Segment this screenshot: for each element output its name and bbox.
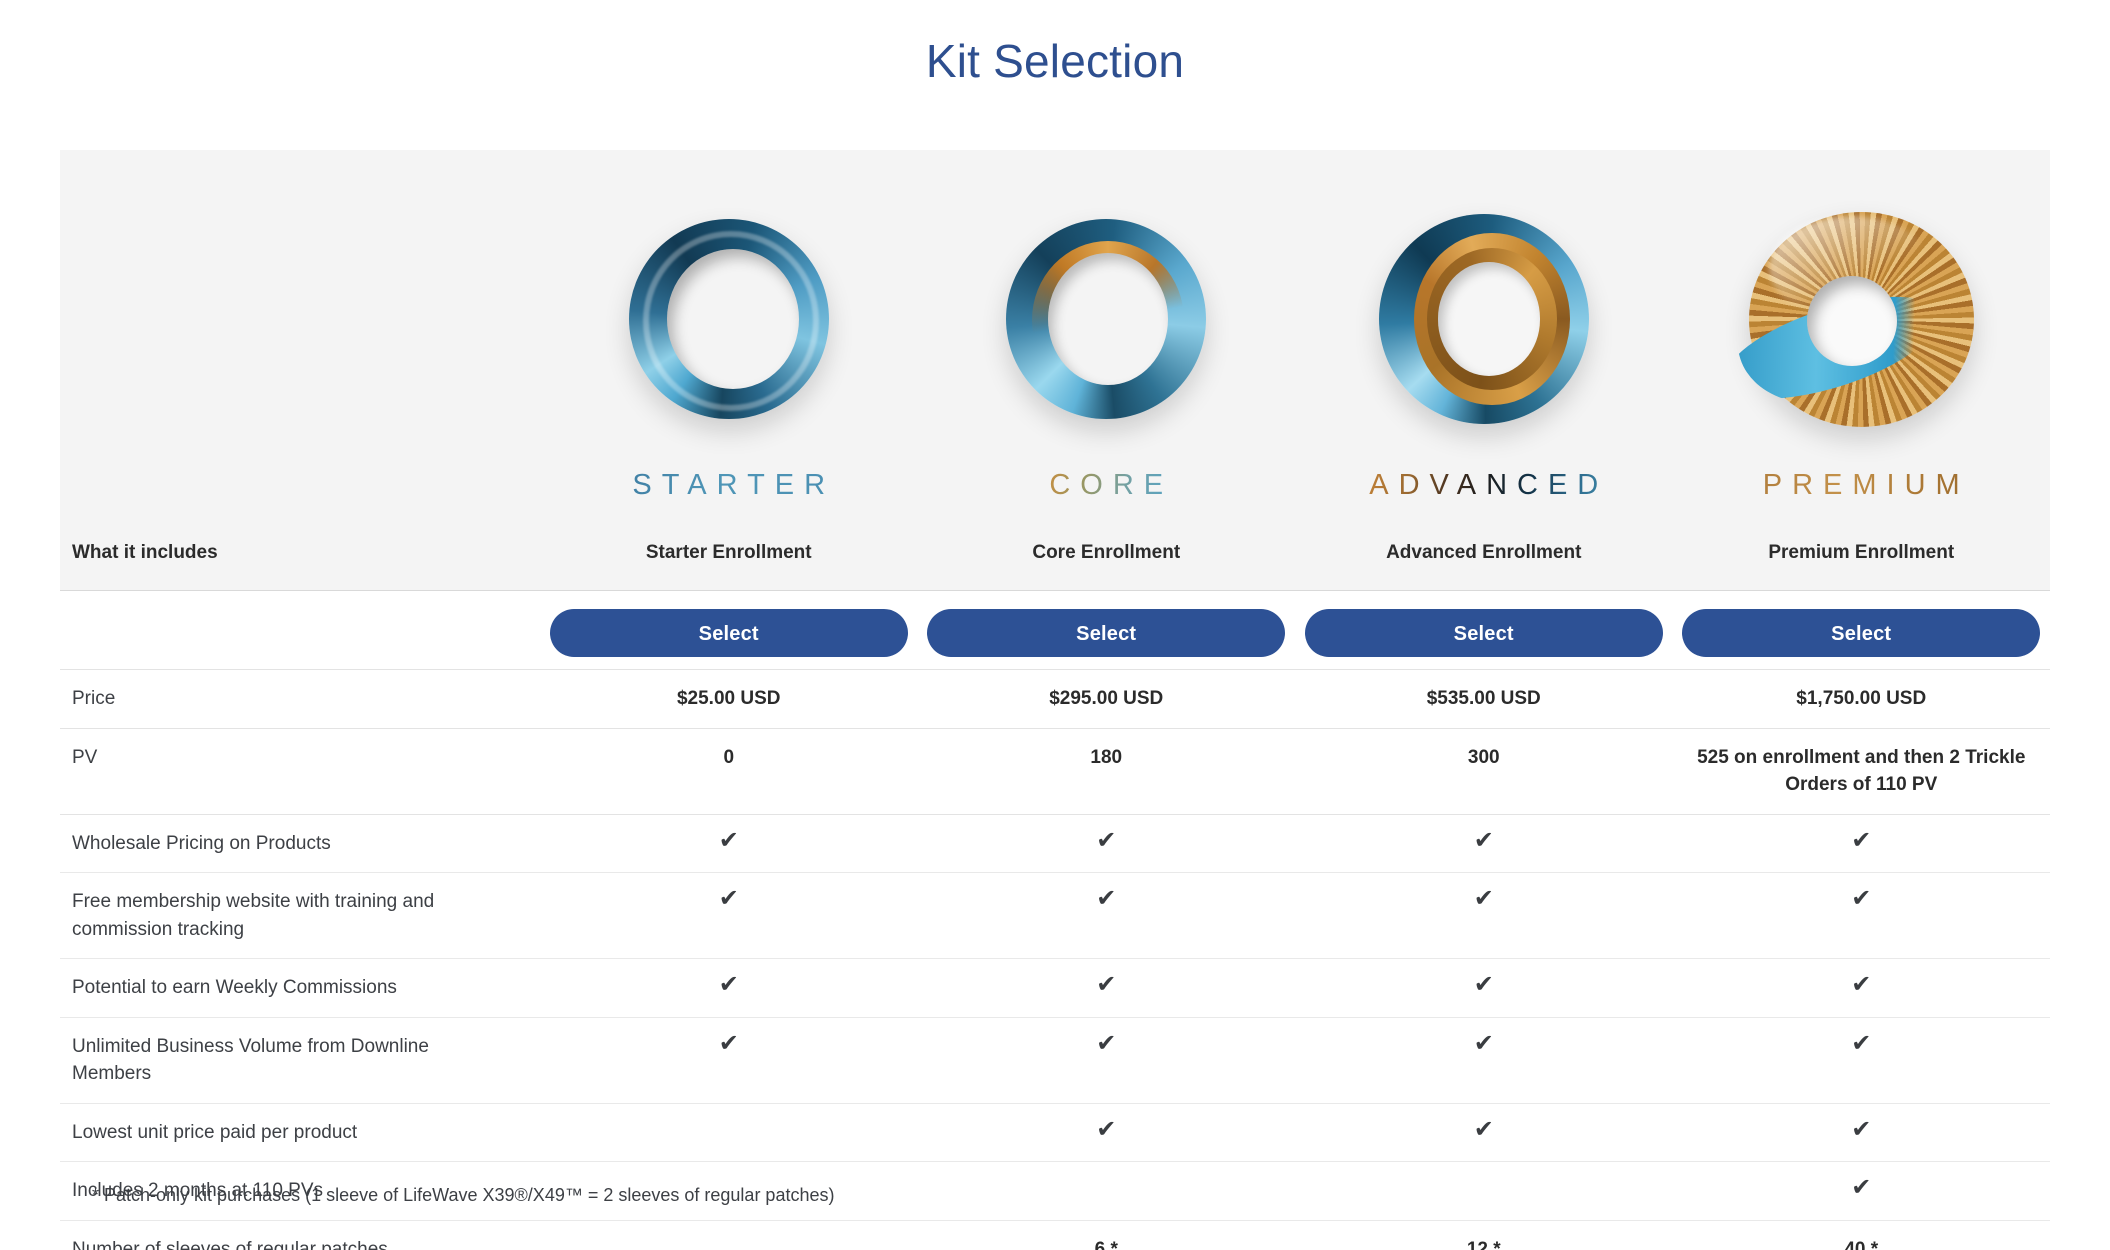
select-cell-core: Select [918,591,1296,670]
select-button-advanced[interactable]: Select [1305,609,1663,657]
hero-spacer-cell [60,150,540,542]
check-volume-advanced: ✔ [1295,1017,1673,1103]
check-website-advanced: ✔ [1295,873,1673,959]
starter-ring-icon [540,169,918,469]
sleeves-premium: 40 * [1673,1221,2051,1250]
check-website-premium: ✔ [1673,873,2051,959]
check-wholesale-core: ✔ [918,814,1296,873]
pv-premium: 525 on enrollment and then 2 Trickle Ord… [1673,728,2051,814]
price-advanced: $535.00 USD [1295,670,1673,729]
kit-word-core: CORE [1039,469,1173,502]
sleeves-starter [540,1221,918,1250]
select-cell-starter: Select [540,591,918,670]
check-commissions-premium: ✔ [1673,959,2051,1018]
select-cell-premium: Select [1673,591,2051,670]
kit-comparison-table: STARTER CORE [60,150,2050,1250]
check-volume-premium: ✔ [1673,1017,2051,1103]
core-ring-icon [918,169,1296,469]
check-commissions-advanced: ✔ [1295,959,1673,1018]
check-wholesale-premium: ✔ [1673,814,2051,873]
check-website-starter: ✔ [540,873,918,959]
check-2months-advanced [1295,1162,1673,1221]
check-wholesale-starter: ✔ [540,814,918,873]
table-row-pv: PV 0 180 300 525 on enrollment and then … [60,728,2050,814]
table-row-lowest-unit-price: Lowest unit price paid per product ✔ ✔ ✔ [60,1103,2050,1162]
hero-cell-core: CORE [918,150,1296,542]
page-title: Kit Selection [0,0,2110,87]
sleeves-core: 6 * [918,1221,1296,1250]
premium-ring-icon [1673,169,2051,469]
row-label-sleeves-count: Number of sleeves of regular patches [60,1221,540,1250]
row-label-lowest-unit-price: Lowest unit price paid per product [60,1103,540,1162]
pv-advanced: 300 [1295,728,1673,814]
kit-hero-row: STARTER CORE [60,150,2050,542]
check-lowest-price-advanced: ✔ [1295,1103,1673,1162]
price-core: $295.00 USD [918,670,1296,729]
table-row-price: Price $25.00 USD $295.00 USD $535.00 USD… [60,670,2050,729]
hero-cell-starter: STARTER [540,150,918,542]
check-website-core: ✔ [918,873,1296,959]
check-commissions-starter: ✔ [540,959,918,1018]
select-button-starter[interactable]: Select [550,609,908,657]
enrollment-label-advanced: Advanced Enrollment [1295,542,1673,591]
hero-cell-advanced: ADVANCED [1295,150,1673,542]
table-row-weekly-commissions: Potential to earn Weekly Commissions ✔ ✔… [60,959,2050,1018]
table-row-wholesale-pricing: Wholesale Pricing on Products ✔ ✔ ✔ ✔ [60,814,2050,873]
check-lowest-price-premium: ✔ [1673,1103,2051,1162]
enrollment-label-starter: Starter Enrollment [540,542,918,591]
enrollment-label-core: Core Enrollment [918,542,1296,591]
what-it-includes-header: What it includes [60,542,540,591]
check-volume-starter: ✔ [540,1017,918,1103]
select-cell-advanced: Select [1295,591,1673,670]
kit-select-button-row: Select Select Select Select [60,591,2050,670]
hero-cell-premium: PREMIUM [1673,150,2051,542]
row-label-free-membership-website: Free membership website with training an… [60,873,540,959]
row-label-price: Price [60,670,540,729]
kit-enrollment-label-row: What it includes Starter Enrollment Core… [60,542,2050,591]
kit-word-starter: STARTER [622,469,835,502]
row-label-wholesale-pricing: Wholesale Pricing on Products [60,814,540,873]
price-premium: $1,750.00 USD [1673,670,2051,729]
row-label-weekly-commissions: Potential to earn Weekly Commissions [60,959,540,1018]
check-2months-premium: ✔ [1673,1162,2051,1221]
select-button-premium[interactable]: Select [1682,609,2040,657]
kit-selection-page: Kit Selection [0,0,2110,1250]
row-label-unlimited-business-volume: Unlimited Business Volume from Downline … [60,1017,540,1103]
kit-table-body: STARTER CORE [60,150,2050,1250]
check-lowest-price-core: ✔ [918,1103,1296,1162]
check-2months-core [918,1162,1296,1221]
check-wholesale-advanced: ✔ [1295,814,1673,873]
price-starter: $25.00 USD [540,670,918,729]
advanced-ring-icon [1295,169,1673,469]
check-volume-core: ✔ [918,1017,1296,1103]
table-row-sleeves-count: Number of sleeves of regular patches 6 *… [60,1221,2050,1250]
check-commissions-core: ✔ [918,959,1296,1018]
enrollment-label-premium: Premium Enrollment [1673,542,2051,591]
table-row-free-membership-website: Free membership website with training an… [60,873,2050,959]
footnote-patch-only-kits: * Patch-only kit purchases (1 sleeve of … [92,1185,834,1206]
check-lowest-price-starter [540,1103,918,1162]
pv-core: 180 [918,728,1296,814]
kit-word-premium: PREMIUM [1753,469,1970,502]
sleeves-advanced: 12 * [1295,1221,1673,1250]
row-label-pv: PV [60,728,540,814]
pv-starter: 0 [540,728,918,814]
select-button-core[interactable]: Select [927,609,1285,657]
kit-word-advanced: ADVANCED [1359,469,1608,502]
kit-comparison-table-wrapper: STARTER CORE [60,150,2050,1250]
select-row-spacer [60,591,540,670]
table-row-unlimited-business-volume: Unlimited Business Volume from Downline … [60,1017,2050,1103]
